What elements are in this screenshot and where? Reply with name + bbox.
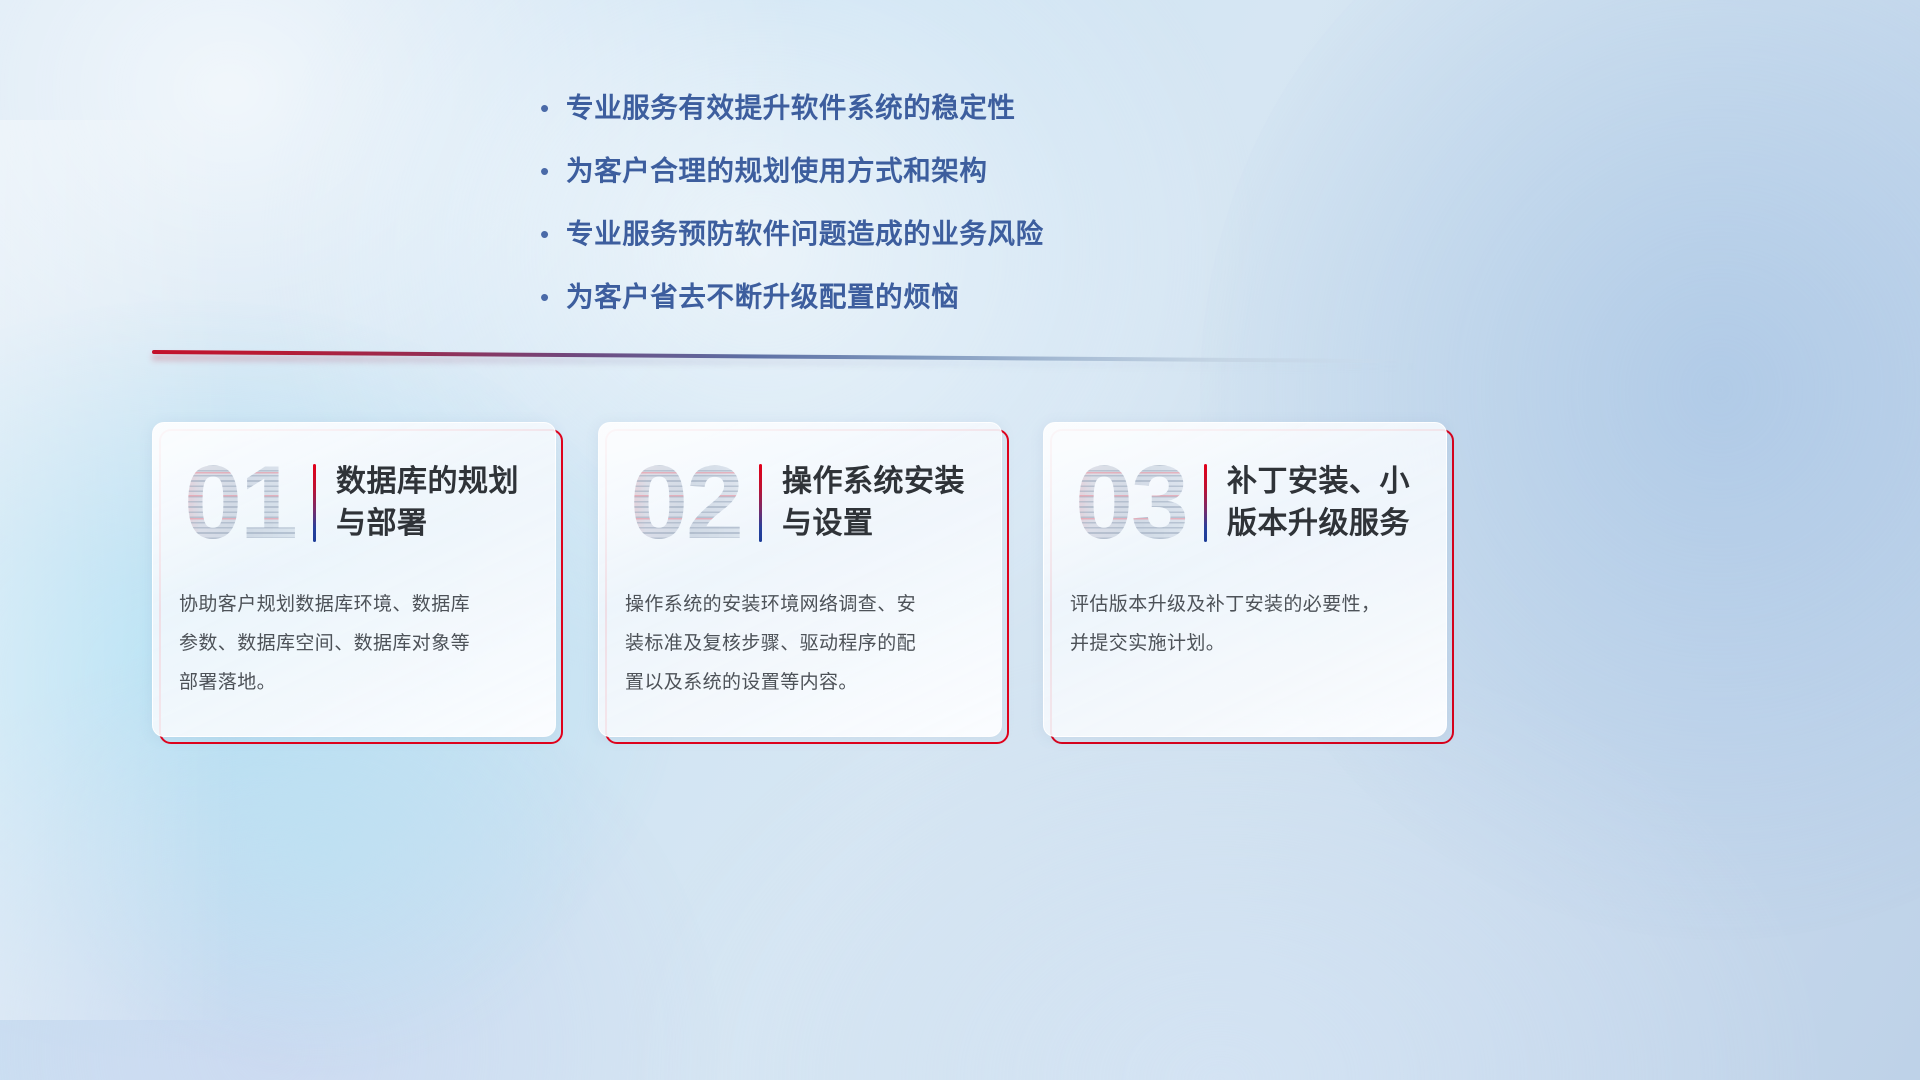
card-header: 03 补丁安装、小 版本升级服务 bbox=[1044, 443, 1446, 563]
card-title-line-2: 版本升级服务 bbox=[1227, 503, 1432, 545]
card-header: 01 数据库的规划 与部署 bbox=[153, 443, 555, 563]
card-title-line-1: 补丁安装、小 bbox=[1227, 461, 1432, 503]
card-description-line-2: 并提交实施计划。 bbox=[1070, 624, 1424, 663]
card-title-accent-bar bbox=[313, 464, 316, 542]
service-card-01[interactable]: 01 数据库的规划 与部署 协助客户规划数据库环境、数据库 参数、数据库空间、数… bbox=[152, 422, 556, 737]
service-card-group: 01 数据库的规划 与部署 协助客户规划数据库环境、数据库 参数、数据库空间、数… bbox=[0, 0, 1920, 1080]
card-description: 操作系统的安装环境网络调查、安 装标准及复核步骤、驱动程序的配 置以及系统的设置… bbox=[625, 585, 979, 702]
card-title-accent-bar bbox=[759, 464, 762, 542]
card-description-line-1: 协助客户规划数据库环境、数据库 bbox=[179, 585, 533, 624]
card-title-accent-bar bbox=[1204, 464, 1207, 542]
card-description-line-2: 参数、数据库空间、数据库对象等 bbox=[179, 624, 533, 663]
service-card-03[interactable]: 03 补丁安装、小 版本升级服务 评估版本升级及补丁安装的必要性， 并提交实施计… bbox=[1043, 422, 1447, 737]
card-description-line-1: 操作系统的安装环境网络调查、安 bbox=[625, 585, 979, 624]
card-number-watermark: 01 bbox=[171, 449, 309, 557]
card-title-line-1: 操作系统安装 bbox=[782, 461, 987, 503]
card-title-line-2: 与部署 bbox=[336, 503, 541, 545]
card-title-line-1: 数据库的规划 bbox=[336, 461, 541, 503]
card-title-line-2: 与设置 bbox=[782, 503, 987, 545]
card-description: 评估版本升级及补丁安装的必要性， 并提交实施计划。 bbox=[1070, 585, 1424, 663]
card-description: 协助客户规划数据库环境、数据库 参数、数据库空间、数据库对象等 部署落地。 bbox=[179, 585, 533, 702]
card-surface[interactable]: 02 操作系统安装 与设置 操作系统的安装环境网络调查、安 装标准及复核步骤、驱… bbox=[598, 422, 1002, 737]
card-surface[interactable]: 03 补丁安装、小 版本升级服务 评估版本升级及补丁安装的必要性， 并提交实施计… bbox=[1043, 422, 1447, 737]
card-number-watermark: 03 bbox=[1062, 449, 1200, 557]
card-description-line-1: 评估版本升级及补丁安装的必要性， bbox=[1070, 585, 1424, 624]
card-title: 数据库的规划 与部署 bbox=[336, 461, 555, 545]
card-title: 补丁安装、小 版本升级服务 bbox=[1227, 461, 1446, 545]
card-description-line-2: 装标准及复核步骤、驱动程序的配 bbox=[625, 624, 979, 663]
card-number-watermark: 02 bbox=[617, 449, 755, 557]
card-description-line-3: 部署落地。 bbox=[179, 663, 533, 702]
card-description-line-3: 置以及系统的设置等内容。 bbox=[625, 663, 979, 702]
card-title: 操作系统安装 与设置 bbox=[782, 461, 1001, 545]
card-surface[interactable]: 01 数据库的规划 与部署 协助客户规划数据库环境、数据库 参数、数据库空间、数… bbox=[152, 422, 556, 737]
card-header: 02 操作系统安装 与设置 bbox=[599, 443, 1001, 563]
service-card-02[interactable]: 02 操作系统安装 与设置 操作系统的安装环境网络调查、安 装标准及复核步骤、驱… bbox=[598, 422, 1002, 737]
